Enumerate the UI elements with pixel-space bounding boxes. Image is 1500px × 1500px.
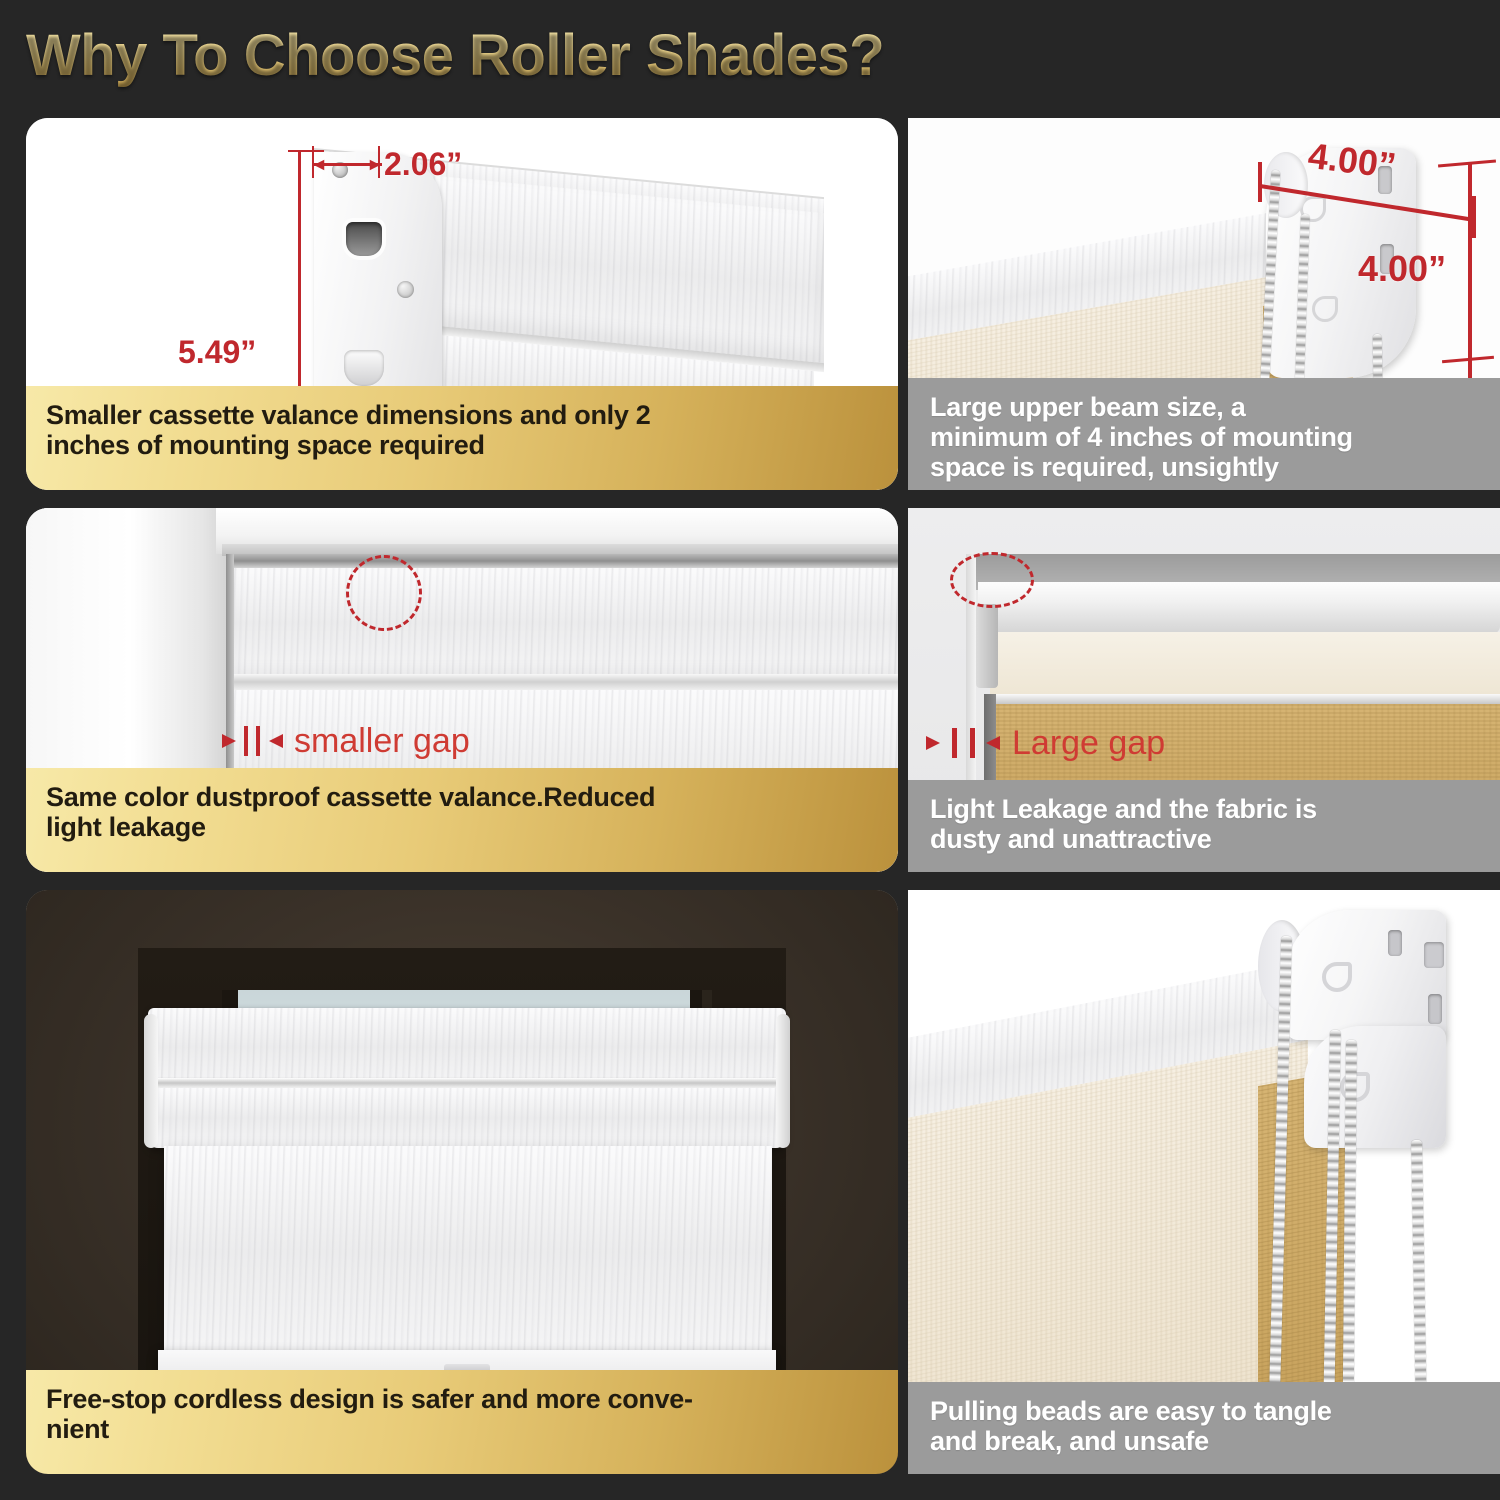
caption-line: space is required, unsightly (930, 452, 1353, 482)
caption-line: Pulling beads are easy to tangle (930, 1396, 1332, 1426)
valance-end-cap-left-icon (144, 1014, 158, 1148)
beads-bracket-upper (1286, 910, 1446, 1040)
end-cap-clip-icon (344, 350, 384, 386)
caption-line: Smaller cassette valance dimensions and … (46, 400, 650, 430)
beam-height-dimension-label: 4.00” (1358, 248, 1446, 290)
gap-arrow-left-icon (222, 734, 236, 748)
large-gap-label: Large gap (1012, 724, 1165, 763)
page-title: Why To Choose Roller Shades? (26, 22, 884, 89)
caption-line: light leakage (46, 812, 655, 842)
cordless-valance-roll (148, 1088, 786, 1148)
bracket-logo-upper-icon (1322, 962, 1352, 992)
caption-line: nient (46, 1414, 693, 1444)
end-cap-screw-icon (397, 281, 414, 298)
width-dimension-label: 2.06” (384, 146, 462, 183)
cassette-valance-bar (232, 554, 898, 568)
caption-line: Light Leakage and the fabric is (930, 794, 1317, 824)
cordless-shade-fabric (164, 1146, 772, 1358)
gap-arrow-right-icon (269, 734, 283, 748)
panel-pulling-beads-tangle[interactable]: Pulling beads are easy to tangle and bre… (908, 890, 1500, 1474)
panel-dustproof-cassette-valance[interactable]: smaller gap Same color dustproof cassett… (26, 508, 898, 872)
cordless-valance-top (148, 1008, 786, 1086)
large-gap-arrow-left-icon (926, 736, 940, 750)
bracket-logo-lower-icon (1312, 296, 1338, 322)
valance-end-cap-right-icon (776, 1014, 790, 1148)
caption-line: Free-stop cordless design is safer and m… (46, 1384, 693, 1414)
beam-height-tick-top (1438, 159, 1496, 167)
large-gap-tick-right (970, 728, 975, 758)
gap-tick-left (244, 726, 248, 756)
caption-light-leakage-dusty-fabric: Light Leakage and the fabric is dusty an… (908, 780, 1500, 872)
gap-tick-right (256, 726, 260, 756)
beam-width-tick-left (1258, 162, 1262, 202)
caption-line: Same color dustproof cassette valance.Re… (46, 782, 655, 812)
beam-width-tick-right (1472, 196, 1476, 238)
infographic-root: Why To Choose Roller Shades? Why To Choo… (0, 0, 1500, 1500)
smaller-gap-label: smaller gap (294, 722, 470, 761)
caption-pulling-beads-tangle: Pulling beads are easy to tangle and bre… (908, 1382, 1500, 1474)
bracket-slot-mid-icon (1428, 994, 1442, 1024)
bottom-rail-strip (990, 694, 1500, 704)
large-gap-tick-left (952, 728, 957, 758)
panel-free-stop-cordless-design[interactable]: Free-stop cordless design is safer and m… (26, 890, 898, 1474)
caption-dustproof-cassette-valance: Same color dustproof cassette valance.Re… (26, 768, 898, 872)
panel-cassette-valance-dimensions[interactable]: 2.06” 5.49” Smaller cassette valance dim… (26, 118, 898, 490)
valance-gap-highlight-circle (346, 555, 422, 631)
width-dim-arrow-right-icon (370, 160, 381, 171)
panel-light-leakage-dusty-fabric[interactable]: Large gap Light Leakage and the fabric i… (908, 508, 1500, 872)
valance-face-fabric (232, 568, 898, 678)
light-leak-highlight-circle (950, 552, 1034, 608)
bracket-slot-right-icon (1424, 942, 1444, 968)
caption-line: minimum of 4 inches of mounting (930, 422, 1353, 452)
roller-tube-cylinder (978, 582, 1500, 634)
caption-line: dusty and unattractive (930, 824, 1317, 854)
caption-free-stop-cordless-design: Free-stop cordless design is safer and m… (26, 1370, 898, 1474)
end-cap-bracket-slot-icon (346, 222, 382, 256)
caption-line: and break, and unsafe (930, 1426, 1332, 1456)
cordless-valance-groove (152, 1078, 782, 1088)
height-dimension-label: 5.49” (178, 334, 256, 371)
width-dim-arrow-left-icon (314, 160, 325, 171)
cream-fabric-band (990, 632, 1500, 696)
bracket-hardware-piece (976, 604, 998, 688)
large-gap-arrow-right-icon (986, 736, 1000, 750)
bracket-slot-top-icon (1388, 930, 1402, 956)
caption-line: inches of mounting space required (46, 430, 650, 460)
panel-large-upper-beam[interactable]: 4.00” 4.00” Large upper beam size, a min… (908, 118, 1500, 490)
caption-cassette-valance-dimensions: Smaller cassette valance dimensions and … (26, 386, 898, 490)
valance-bottom-rail (232, 674, 898, 690)
height-dim-tick-top (288, 150, 324, 152)
caption-large-upper-beam: Large upper beam size, a minimum of 4 in… (908, 378, 1500, 490)
beads-bracket-lower (1304, 1026, 1446, 1148)
caption-line: Large upper beam size, a (930, 392, 1353, 422)
